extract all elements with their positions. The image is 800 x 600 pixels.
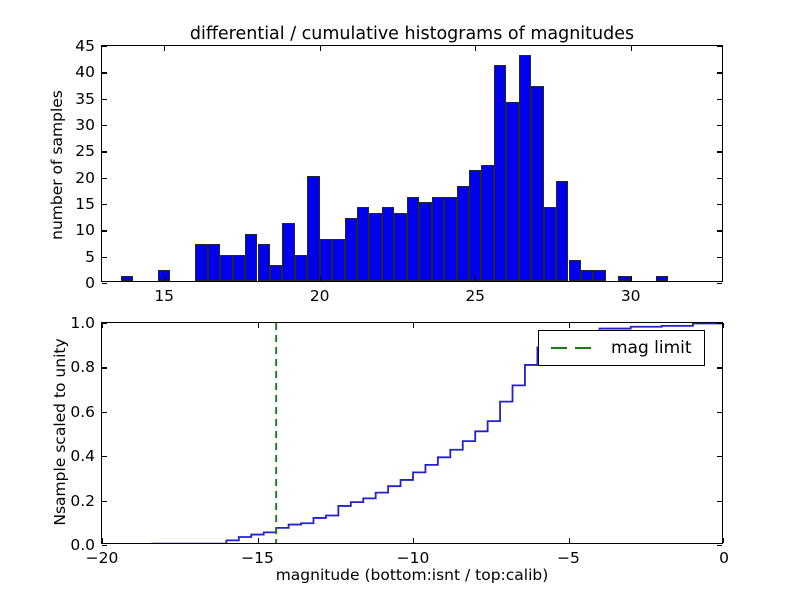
histogram-bar [282,223,294,281]
histogram-bar [531,86,543,281]
top-axis-y-label: number of samples [48,50,66,280]
histogram-bar [494,65,506,281]
bottom-y-tick-right [717,412,722,413]
histogram-bar [457,186,469,281]
histogram-bar [382,207,394,281]
bottom-x-tick-top [413,323,414,328]
bottom-axis-y-label: Nsample scaled to unity [51,292,69,572]
bottom-y-tick [102,501,107,502]
bottom-y-tick-right [717,456,722,457]
histogram-bar [220,255,232,281]
bottom-y-ticklabel: 0.8 [70,358,95,376]
top-x-tick [475,276,476,281]
histogram-bar [345,218,357,281]
bottom-x-tick [102,538,103,543]
top-x-ticklabel: 30 [621,287,641,305]
bottom-y-tick-right [717,501,722,502]
histogram-bar [618,276,630,281]
bottom-x-ticklabel: −15 [241,549,274,567]
bottom-y-tick-right [717,323,722,324]
histogram-bar [394,213,406,281]
top-y-tick [102,72,107,73]
histogram-bar [369,213,381,281]
top-y-ticklabel: 0 [85,274,95,292]
histogram-bar [419,202,431,281]
histogram-bar [195,244,207,281]
histogram-bar [407,197,419,281]
histogram-bar [332,239,344,281]
histogram-bar [569,260,581,281]
bottom-y-tick [102,367,107,368]
top-y-ticklabel: 20 [75,169,95,187]
top-x-ticklabel: 25 [465,287,485,305]
top-y-ticklabel: 25 [75,142,95,160]
top-y-ticklabel: 5 [85,248,95,266]
top-x-tick-top [475,46,476,51]
top-x-tick [164,276,165,281]
legend-box[interactable]: mag limit [538,330,705,366]
histogram-bar [307,176,319,281]
top-x-tick [320,276,321,281]
top-axes-differential-histogram: 05101520253035404515202530 [101,45,723,282]
top-y-tick-right [717,178,722,179]
histogram-bar [556,181,568,281]
top-y-tick [102,125,107,126]
matplotlib-figure: differential / cumulative histograms of … [0,0,800,600]
histogram-bar [295,255,307,281]
top-x-tick-top [320,46,321,51]
bottom-x-ticklabel: 0 [719,549,729,567]
bottom-y-ticklabel: 0.2 [70,492,95,510]
bottom-x-tick [258,538,259,543]
histogram-bar [481,165,493,281]
top-y-tick [102,257,107,258]
top-y-tick [102,204,107,205]
top-y-tick-right [717,257,722,258]
histogram-bar [258,244,270,281]
histogram-bar [593,270,605,281]
histogram-bar [432,197,444,281]
histogram-bar [320,239,332,281]
histogram-bar [121,276,133,281]
legend-label-mag-limit: mag limit [611,338,692,358]
histogram-bar [245,234,257,281]
bottom-y-tick [102,545,107,546]
bottom-x-tick-top [102,323,103,328]
histogram-bar [270,265,282,281]
top-x-ticklabel: 15 [154,287,174,305]
histogram-bar [544,207,556,281]
histogram-bar [357,207,369,281]
top-y-ticklabel: 45 [75,37,95,55]
top-y-tick-right [717,230,722,231]
histogram-bar [519,55,531,281]
top-y-tick [102,178,107,179]
top-y-tick [102,230,107,231]
histogram-bar [444,197,456,281]
bottom-x-ticklabel: −20 [86,549,119,567]
top-x-ticklabel: 20 [310,287,330,305]
top-y-ticklabel: 10 [75,221,95,239]
top-y-tick-right [717,72,722,73]
top-y-tick-right [717,283,722,284]
bottom-x-tick-top [723,323,724,328]
bottom-y-ticklabel: 0.6 [70,403,95,421]
mag-limit-dashed-line-icon [551,347,597,350]
histogram-bar [581,270,593,281]
bottom-x-ticklabel: −5 [557,549,580,567]
bottom-y-tick-right [717,545,722,546]
figure-title: differential / cumulative histograms of … [101,24,723,44]
bottom-x-tick-top [569,323,570,328]
bottom-x-tick-top [258,323,259,328]
bottom-x-tick [413,538,414,543]
top-y-ticklabel: 40 [75,63,95,81]
top-x-tick-top [631,46,632,51]
top-y-tick [102,46,107,47]
top-x-tick [631,276,632,281]
top-y-tick-right [717,125,722,126]
top-y-tick-right [717,46,722,47]
top-x-tick-top [164,46,165,51]
top-y-ticklabel: 35 [75,90,95,108]
top-y-ticklabel: 30 [75,116,95,134]
top-y-tick [102,99,107,100]
bottom-y-tick-right [717,367,722,368]
histogram-bar [233,255,245,281]
histogram-bar [506,102,518,281]
bottom-y-tick [102,456,107,457]
histogram-bar [469,170,481,281]
top-y-tick-right [717,204,722,205]
bottom-y-tick [102,412,107,413]
histogram-bar [208,244,220,281]
bottom-axis-x-label: magnitude (bottom:isnt / top:calib) [101,566,723,584]
bottom-x-tick [723,538,724,543]
histogram-bar [656,276,668,281]
top-y-tick-right [717,99,722,100]
top-y-ticklabel: 15 [75,195,95,213]
top-y-tick [102,151,107,152]
bottom-x-ticklabel: −10 [397,549,430,567]
bottom-y-ticklabel: 0.4 [70,447,95,465]
top-plot-area [102,46,722,281]
top-y-tick [102,283,107,284]
top-y-tick-right [717,151,722,152]
bottom-x-tick [569,538,570,543]
bottom-y-ticklabel: 1.0 [70,314,95,332]
